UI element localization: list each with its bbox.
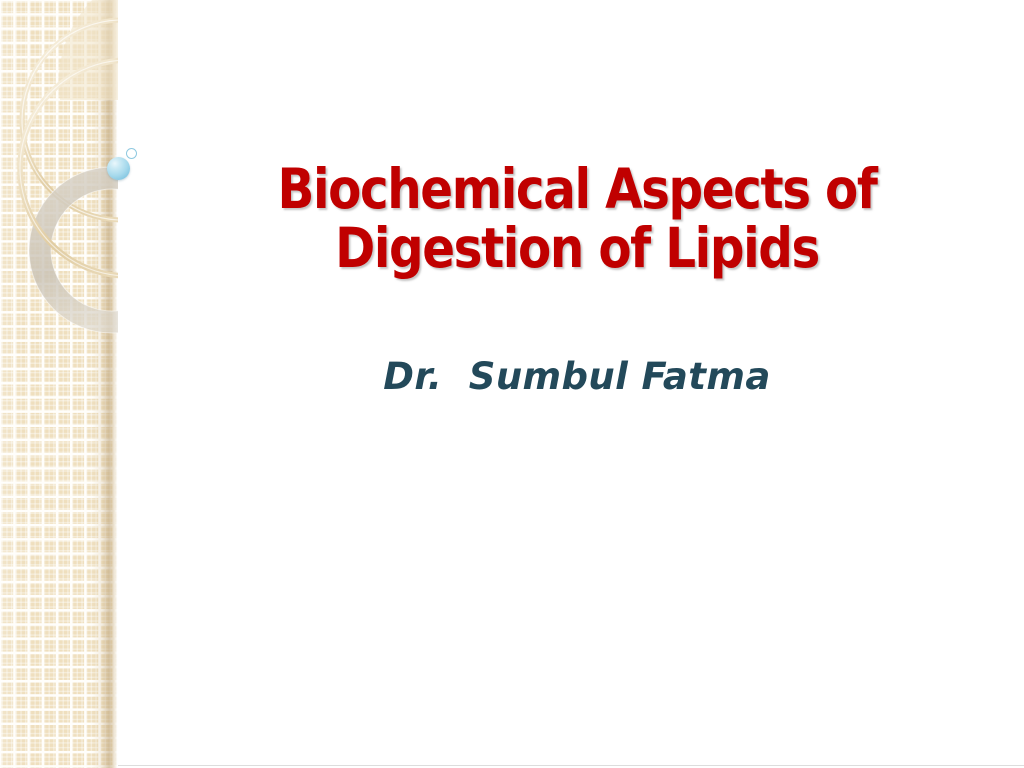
decorative-side-band <box>0 0 118 768</box>
slide-content: Biochemical Aspects of Digestion of Lipi… <box>130 0 1024 768</box>
bottom-divider-line <box>118 765 1024 766</box>
slide-title: Biochemical Aspects of Digestion of Lipi… <box>184 160 971 279</box>
blue-sphere-icon <box>107 157 130 180</box>
presentation-slide: Biochemical Aspects of Digestion of Lipi… <box>0 0 1024 768</box>
band-right-edge-gradient <box>92 0 118 768</box>
slide-subtitle-author: Dr. Sumbul Fatma <box>130 355 1024 398</box>
